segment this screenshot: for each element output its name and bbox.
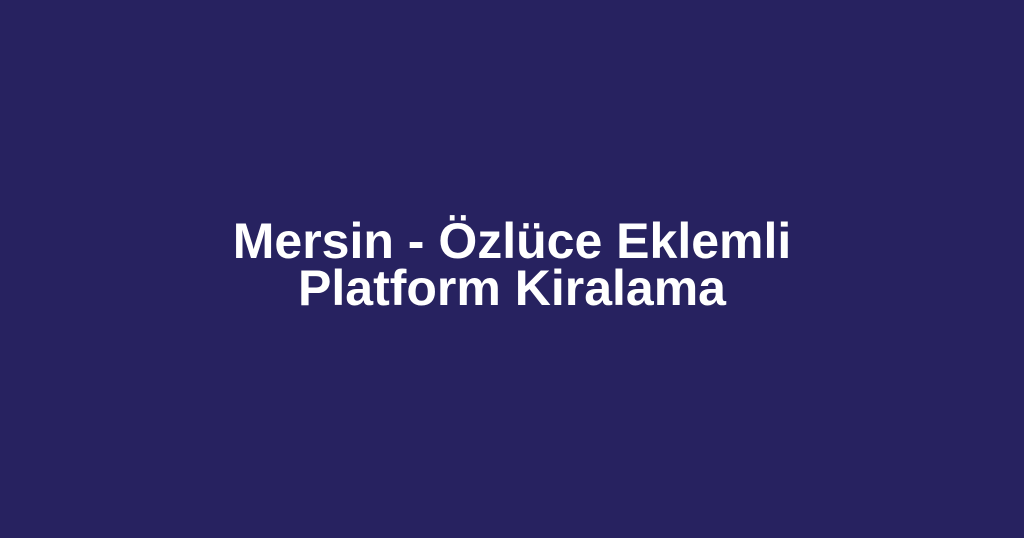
page-title: Mersin - Özlüce Eklemli Platform Kiralam… <box>132 218 892 312</box>
share-preview-card: Mersin - Özlüce Eklemli Platform Kiralam… <box>0 0 1024 538</box>
title-block: Mersin - Özlüce Eklemli Platform Kiralam… <box>132 218 892 312</box>
